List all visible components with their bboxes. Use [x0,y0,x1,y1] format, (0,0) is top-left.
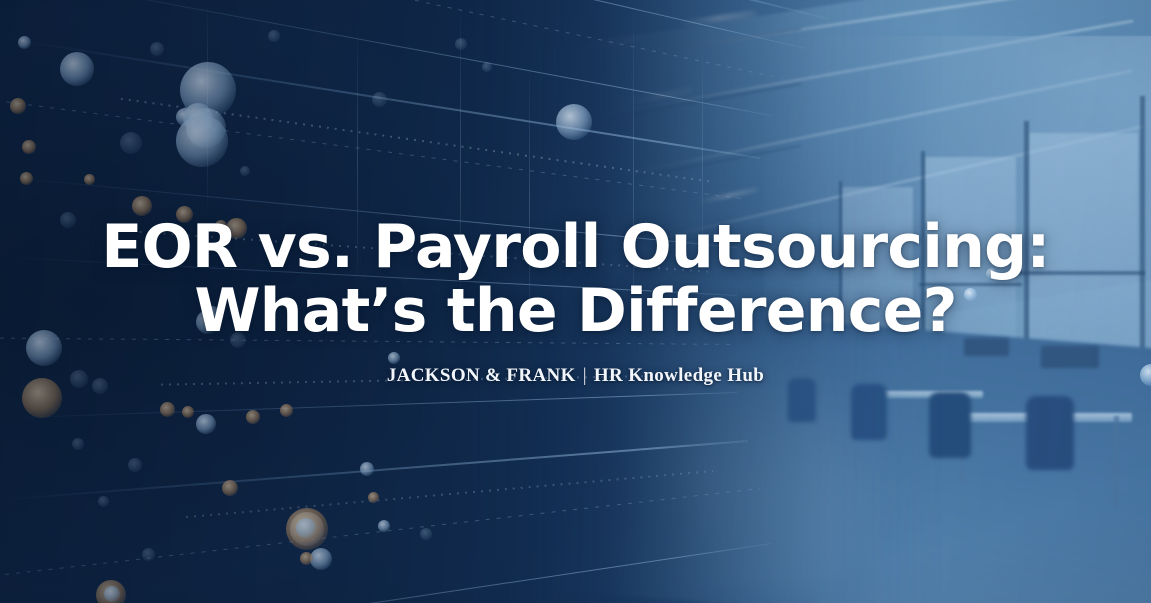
page-title: EOR vs. Payroll Outsourcing: What’s the … [101,216,1049,343]
section-name: HR Knowledge Hub [594,365,764,386]
banner-subtitle: JACKSON & FRANK|HR Knowledge Hub [387,365,764,387]
headline-line-1: EOR vs. Payroll Outsourcing: [101,212,1049,282]
banner-content: EOR vs. Payroll Outsourcing: What’s the … [0,0,1151,603]
brand-name: JACKSON & FRANK [387,365,576,386]
hero-banner: EOR vs. Payroll Outsourcing: What’s the … [0,0,1151,603]
headline-line-2: What’s the Difference? [101,280,1049,343]
subtitle-separator: | [583,365,587,387]
